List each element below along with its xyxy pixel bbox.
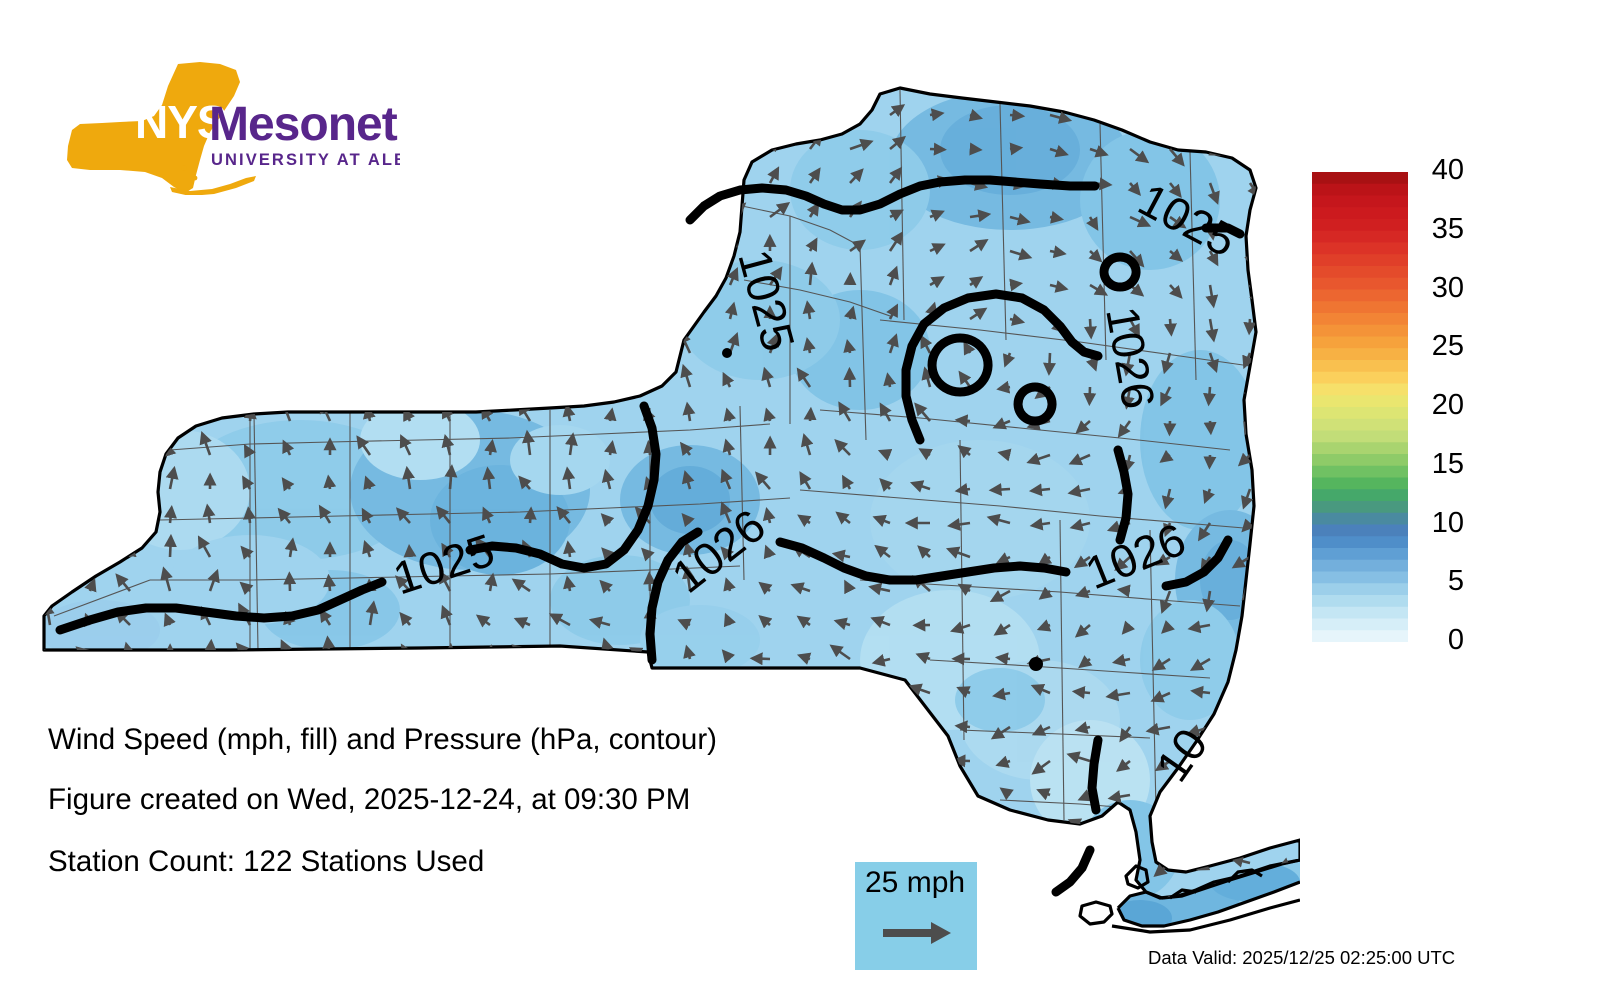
wind-barb [520,927,530,931]
wind-barb [690,110,700,115]
wind-barb [170,367,174,387]
wind-barb [650,100,658,115]
colorbar-tick-40: 40 [1432,156,1464,185]
wind-barb [410,92,412,115]
wind-barb [490,273,497,285]
wind-barb [676,915,690,931]
wind-barb [243,333,250,353]
wind-barb [717,821,730,829]
wind-barb [564,682,570,693]
wind-barb [1250,387,1252,402]
colorbar-band [1312,231,1408,243]
wind-barb [565,650,570,659]
wind-barb [759,888,771,898]
wind-barb [518,684,530,693]
wind-barb [990,861,1011,863]
colorbar-band [1312,266,1408,278]
wind-barb [521,851,531,863]
wind-barb [1250,251,1252,266]
wind-barb [90,240,96,251]
wind-barb [170,235,179,251]
wind-barb [490,298,497,319]
wind-barb [330,172,338,183]
wind-barb [290,206,295,217]
wind-barb [1130,115,1149,117]
wind-barb [250,270,256,285]
wind-barb [210,274,216,285]
wind-barb [250,242,254,252]
wind-barb [330,371,331,387]
wind-barb [754,917,770,931]
wind-barb [48,205,50,217]
wind-barb [1111,863,1130,865]
wind-barb [276,888,290,898]
wind-barb [1039,824,1050,829]
wind-barb [248,509,250,523]
wind-barb [907,792,930,795]
wind-barb [547,930,570,931]
wind-barb [450,267,454,285]
wind-barb [761,706,770,727]
wind-barb [930,149,944,150]
wind-barb [1281,931,1290,941]
wind-barb [955,826,970,829]
wind-barb [959,787,971,795]
wind-barb [370,334,374,353]
wind-barb [279,915,290,931]
wind-barb [50,334,51,353]
wind-barb [330,136,341,149]
wind-barb [730,236,735,251]
colorbar-tick-25: 25 [1432,332,1464,361]
wind-barb [850,370,851,388]
wind-barb [1241,625,1250,636]
wind-barb [250,408,252,421]
wind-barb [798,931,810,933]
wind-barb [38,884,50,897]
wind-barb [368,166,370,183]
colorbar-band [1312,595,1408,607]
wind-barb [365,820,370,829]
wind-barb [650,196,652,218]
wind-barb [47,172,50,183]
colorbar-band [1312,337,1408,349]
wind-barb [1110,824,1130,830]
wind-barb [327,881,330,897]
wind-barb [1210,421,1211,433]
wind-barb [488,204,490,218]
wind-barb [130,343,132,353]
wind-barb [1242,795,1250,816]
wind-barb [210,129,215,149]
wind-barb [1290,115,1300,136]
wind-barb [1287,353,1290,375]
wind-barb [130,238,131,251]
wind-barb [1081,893,1090,897]
wind-barb [210,408,211,421]
colorbar-band [1312,630,1408,642]
colorbar-band [1312,619,1408,631]
colorbar-tick-5: 5 [1448,567,1464,596]
wind-barb [570,203,575,217]
wind-barb [1074,692,1090,694]
wind-barb [650,167,654,183]
wind-barb [168,163,170,183]
colorbar-tick-30: 30 [1432,274,1464,303]
wind-barb [330,338,333,353]
wind-barb [487,844,490,863]
wind-barb [239,922,250,931]
wind-barb [170,537,171,558]
wind-barb [874,711,890,727]
wind-barb [165,199,170,217]
wind-barb [530,135,539,149]
wind-barb [530,96,531,115]
wind-barb [647,263,650,285]
wind-barb [90,201,98,217]
wind-barb [1170,115,1185,125]
wind-barb [206,681,210,694]
wind-barb [685,304,690,319]
wind-barb [50,441,51,455]
wind-barb [634,931,650,933]
wind-barb [530,197,536,217]
colorbar-band [1312,548,1408,560]
wind-barb [789,691,810,694]
wind-barb [481,757,490,761]
wind-barb [755,821,770,829]
wind-barb [370,100,372,115]
wind-barb [362,652,370,659]
wind-barb [248,197,250,217]
data-valid-stamp: Data Valid: 2025/12/25 02:25:00 UTC [1148,947,1455,969]
wind-barb [1231,727,1250,733]
wind-barb [41,582,50,591]
wind-barb [770,101,784,115]
wind-barb [646,297,650,319]
wind-barb [752,658,770,659]
wind-speed-colorbar [1312,172,1408,642]
wind-barb [837,727,850,730]
wind-barb [84,401,91,421]
colorbar-band [1312,325,1408,337]
wind-barb [1276,795,1290,799]
wind-barb [86,164,91,183]
wind-barb [85,443,90,455]
wind-key-arrow-icon [883,920,953,951]
wind-barb [839,750,850,761]
wind-barb [400,880,410,897]
wind-barb [286,230,290,251]
wind-barb [1241,829,1250,849]
wind-barb [289,368,290,387]
wind-barb [410,334,417,353]
wind-key-label: 25 mph [865,866,965,900]
wind-barb [1090,115,1112,116]
wind-barb [85,265,91,285]
wind-barb [369,199,370,217]
colorbar-band [1312,454,1408,466]
wind-barb [675,863,690,865]
wind-barb [1279,591,1290,599]
wind-barb [610,266,623,285]
wind-barb [844,923,850,931]
wind-barb [90,129,92,149]
wind-barb [250,376,254,388]
wind-barb [763,753,770,761]
wind-barb [405,684,410,693]
wind-barb [207,205,210,217]
wind-barb [249,102,250,115]
wind-barb [330,671,332,693]
wind-barb [1010,148,1021,149]
wind-barb [450,174,458,183]
colorbar-tick-15: 15 [1432,450,1464,479]
wind-barb [434,895,450,898]
wind-barb [330,202,339,217]
wind-barb [130,471,135,490]
wind-barb [170,101,180,115]
wind-barb [686,887,690,897]
wind-barb [165,272,170,285]
wind-barb [210,95,217,115]
colorbar-band [1312,607,1408,619]
wind-barb [1197,795,1210,801]
wind-barb [835,795,850,799]
wind-barb [50,501,52,523]
wind-barb [757,685,771,693]
wind-barb [800,815,810,829]
wind-barb [47,536,50,557]
wind-barb [1279,523,1290,536]
wind-barb [450,371,452,387]
wind-barb [1090,319,1091,337]
wind-barb [43,299,50,319]
wind-barb [570,267,579,285]
wind-barb [796,712,810,727]
wind-barb [481,892,490,897]
wind-barb [831,897,850,906]
wind-barb [720,859,731,863]
wind-barb [290,268,298,285]
wind-barb [722,749,730,761]
wind-barb [410,198,422,217]
wind-barb [1284,557,1290,572]
figure-canvas: NYS Mesonet UNIVERSITY AT ALBANY [0,0,1600,1000]
colorbar-band [1312,536,1408,548]
wind-barb [919,724,930,727]
wind-barb [164,339,170,353]
wind-barb [481,366,490,387]
wind-barb [650,233,661,251]
wind-barb [610,235,611,251]
wind-barb [88,501,90,523]
wind-barb [1273,727,1290,732]
colorbar-tick-10: 10 [1432,509,1464,538]
wind-barb [450,646,451,660]
wind-barb [527,341,530,353]
wind-barb [330,103,331,115]
wind-barb [450,96,451,115]
wind-barb [530,373,534,388]
wind-barb [490,95,501,115]
wind-barb [290,127,293,149]
wind-barb [1275,761,1290,772]
wind-barb [129,682,130,693]
wind-barb [789,897,810,901]
wind-barb [1285,625,1290,644]
wind-barb [170,308,173,320]
wind-barb [555,847,570,863]
wind-barb [403,264,410,285]
wind-barb [168,402,170,421]
wind-barb [1039,856,1051,864]
colorbar-band [1312,184,1408,196]
wind-barb [562,369,570,387]
wind-barb [364,887,371,897]
wind-barb [921,756,930,761]
wind-barb [35,925,50,932]
wind-barb [690,138,700,149]
wind-barb [1290,285,1298,296]
wind-barb [370,267,372,285]
wind-barb [120,402,130,421]
wind-barb [710,931,730,936]
wind-barb [970,149,980,150]
wind-barb [530,509,531,523]
wind-barb [163,822,170,830]
colorbar-tick-0: 0 [1448,626,1464,655]
wind-barb [127,202,130,217]
wind-barb [408,135,410,149]
wind-barb [1234,761,1250,765]
wind-barb [609,339,610,353]
wind-barb [608,201,610,217]
colorbar-band [1312,207,1408,219]
wind-barb [46,233,50,251]
wind-barb [450,467,452,489]
wind-barb [596,880,610,897]
colorbar-band [1312,442,1408,454]
wind-barb [872,829,890,837]
wind-barb [1250,115,1262,133]
colorbar-band [1312,419,1408,431]
wind-barb [450,131,460,149]
wind-barb [606,920,610,931]
colorbar-band [1312,395,1408,407]
colorbar-band [1312,572,1408,584]
wind-barb [637,821,650,830]
wind-barb [649,442,651,455]
wind-barb [43,267,50,285]
wind-barb [730,167,741,183]
wind-barb [708,897,731,901]
wind-barb [688,271,690,285]
wind-barb [1244,931,1250,941]
wind-barb [610,300,611,319]
colorbar-band [1312,360,1408,372]
wind-barb [570,128,577,149]
wind-barb [912,819,930,829]
wind-barb [876,783,890,795]
colorbar-band [1312,172,1408,184]
wind-barb [290,100,304,116]
wind-barb [1290,149,1300,163]
wind-barb [72,682,91,693]
wind-barb [450,238,453,251]
wind-barb [490,238,491,251]
wind-barb [250,682,251,693]
colorbar-band [1312,478,1408,490]
wind-barb [992,891,1010,897]
wind-barb [246,165,250,183]
wind-barb [1010,284,1021,286]
wind-barb [80,923,90,932]
wind-barb [1170,421,1171,434]
wind-barb [837,861,850,863]
wind-barb [802,858,810,864]
wind-barb [1192,829,1210,841]
wind-barb [450,203,458,217]
colorbar-band [1312,431,1408,443]
new-york-state-weather-map: 1025 1025 1026 1025 1026 1026 10 [0,20,1300,960]
wind-barb [991,489,1010,490]
colorbar-band [1312,348,1408,360]
wind-barb [129,887,130,898]
wind-barb [450,334,459,353]
wind-barb [79,538,90,557]
wind-barb [719,782,731,795]
wind-barb [1240,693,1250,704]
wind-barb [1290,387,1292,402]
wind-barb [43,408,50,421]
wind-barb [436,918,450,931]
wind-barb [800,794,810,796]
wind-barb [48,135,50,149]
wind-barb [828,689,850,693]
wind-barb [1040,928,1050,931]
wind-barb [1010,115,1023,116]
colorbar-tick-20: 20 [1432,391,1464,420]
wind-barb [490,167,500,183]
colorbar-band [1312,278,1408,290]
wind-barb [558,895,570,897]
wind-barb [330,234,334,251]
wind-barb [1160,931,1170,945]
wind-barb [764,785,770,795]
wind-barb [930,113,942,115]
station-count-text: Station Count: 122 Stations Used [48,845,484,879]
wind-barb [483,917,490,931]
wind-barb [365,920,370,931]
wind-barb [642,881,650,897]
wind-barb [170,884,171,897]
wind-barb [206,336,210,353]
wind-barb [41,674,50,693]
wind-barb [195,890,210,897]
wind-barb [1078,931,1090,941]
wind-barb [410,241,413,251]
colorbar-band [1312,243,1408,255]
wind-barb [641,850,650,863]
wind-barb [644,334,651,353]
colorbar-band [1312,301,1408,313]
wind-barb [833,825,851,829]
colorbar-tick-35: 35 [1432,215,1464,244]
wind-barb [47,477,50,489]
wind-barb [995,924,1010,931]
wind-barb [600,848,611,863]
